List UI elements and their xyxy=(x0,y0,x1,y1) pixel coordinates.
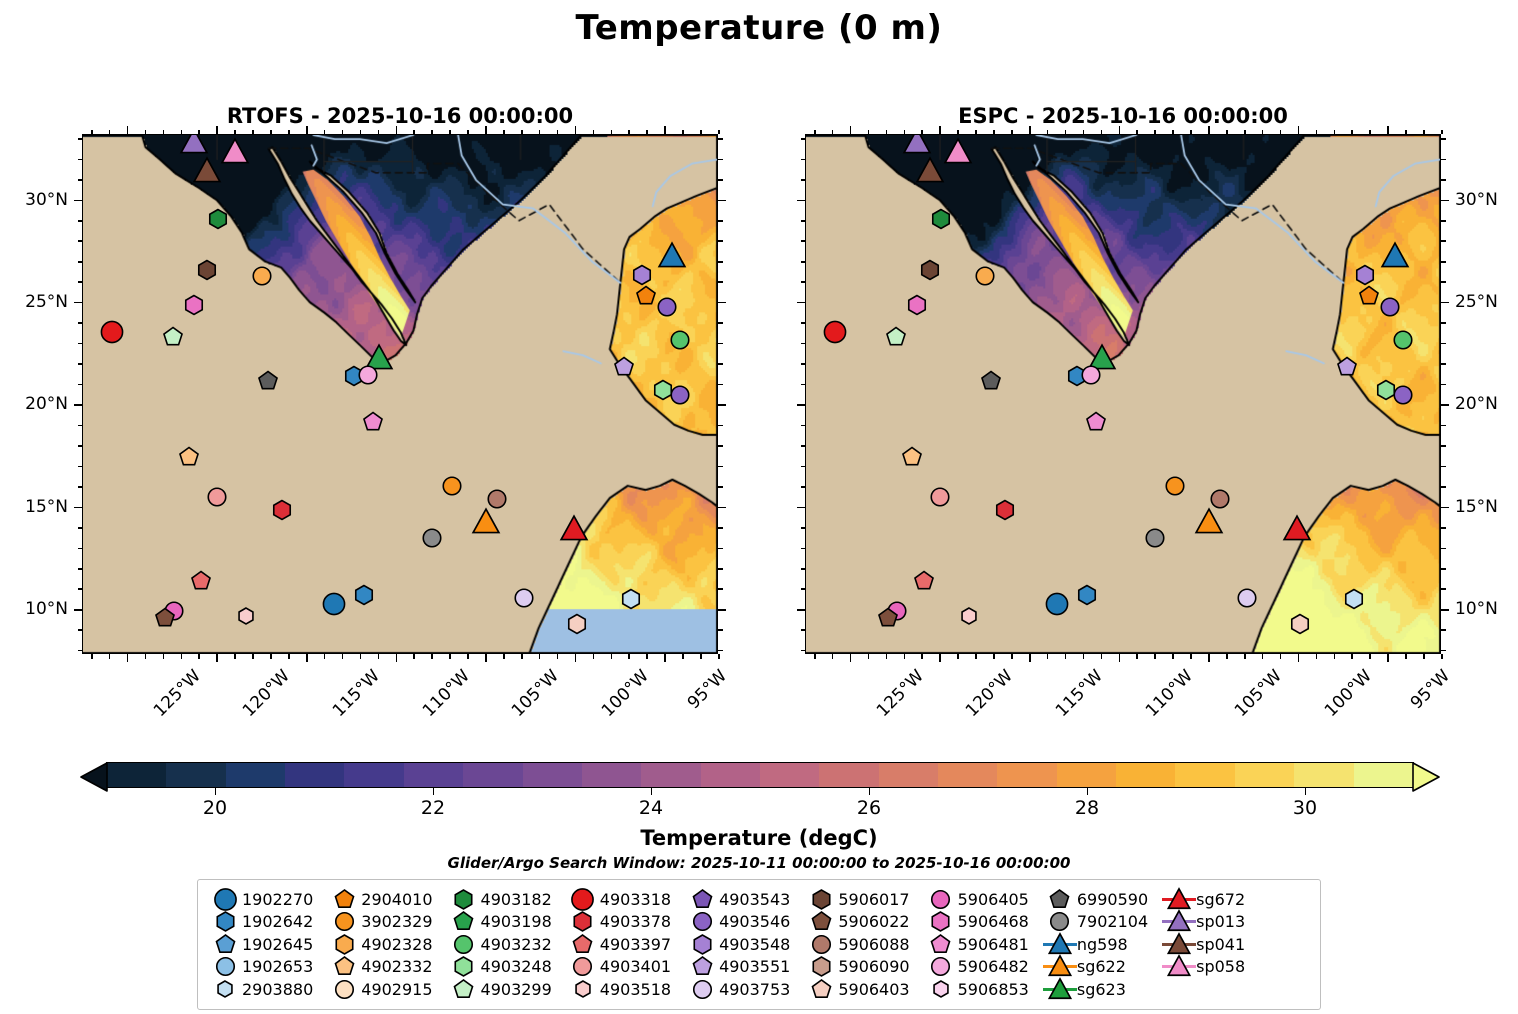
x-tick-minor xyxy=(252,130,254,135)
legend-marker-icon xyxy=(685,978,719,1000)
x-tick-minor xyxy=(1065,654,1067,659)
x-tick xyxy=(306,654,308,662)
legend-label: sp013 xyxy=(1196,912,1245,931)
x-tick-minor xyxy=(1423,130,1425,135)
x-tick-minor xyxy=(521,130,523,135)
legend-item[interactable]: 4903198 xyxy=(447,911,566,934)
legend-marker-icon xyxy=(1162,911,1196,933)
map-marker[interactable] xyxy=(361,409,386,434)
x-tick xyxy=(575,654,577,662)
x-tick-label: 95°W xyxy=(684,666,731,713)
y-tick-minor xyxy=(1441,588,1446,590)
legend-item[interactable]: 4903753 xyxy=(685,978,804,1001)
legend-marker-icon xyxy=(685,956,719,978)
sst-field-rtofs xyxy=(83,135,717,653)
x-tick xyxy=(396,654,398,662)
map-marker[interactable] xyxy=(978,368,1003,393)
y-tick-minor xyxy=(78,629,83,631)
map-marker[interactable] xyxy=(472,507,501,536)
map-marker[interactable] xyxy=(182,292,207,317)
x-tick-minor xyxy=(431,654,433,659)
legend-label: 5906088 xyxy=(838,935,909,954)
y-tick-minor xyxy=(801,179,806,181)
y-tick xyxy=(797,507,805,509)
x-tick-label: 110°W xyxy=(1141,666,1196,721)
x-tick-minor xyxy=(360,654,362,659)
x-tick-minor xyxy=(1011,654,1013,659)
y-tick-minor xyxy=(78,159,83,161)
map-frame-espc[interactable] xyxy=(805,134,1441,654)
legend-label: 4902332 xyxy=(361,957,432,976)
y-tick xyxy=(797,200,805,202)
y-tick-minor xyxy=(801,240,806,242)
legend-item[interactable]: ng598 xyxy=(1043,933,1162,956)
y-tick-minor xyxy=(1441,425,1446,427)
map-marker[interactable] xyxy=(1084,409,1109,434)
legend-item[interactable]: sg623 xyxy=(1043,978,1162,1001)
y-tick-minor xyxy=(78,281,83,283)
map-marker[interactable] xyxy=(565,612,590,637)
map-marker[interactable] xyxy=(1234,585,1259,610)
legend-item[interactable]: sg672 xyxy=(1162,888,1259,911)
map-marker[interactable] xyxy=(876,606,901,631)
map-marker[interactable] xyxy=(192,156,221,185)
legend-label: 5906482 xyxy=(958,957,1029,976)
map-marker[interactable] xyxy=(1335,355,1360,380)
map-marker[interactable] xyxy=(619,586,644,611)
legend-item[interactable]: 5906090 xyxy=(804,956,923,979)
x-tick-minor xyxy=(611,654,613,659)
map-marker[interactable] xyxy=(899,445,924,470)
sst-field-espc xyxy=(806,135,1440,653)
x-tick xyxy=(1298,654,1300,662)
y-tick-minor xyxy=(78,138,83,140)
map-marker[interactable] xyxy=(912,569,937,594)
x-tick-minor xyxy=(682,130,684,135)
y-tick xyxy=(1441,302,1449,304)
x-tick-minor xyxy=(700,654,702,659)
map-marker[interactable] xyxy=(355,362,380,387)
y-tick-minor xyxy=(801,466,806,468)
legend-item[interactable]: sp058 xyxy=(1162,956,1259,979)
map-marker[interactable] xyxy=(205,485,230,510)
y-tick-minor xyxy=(1441,281,1446,283)
y-tick xyxy=(797,609,805,611)
legend-item[interactable]: 5906468 xyxy=(924,911,1043,934)
legend-label: 5906481 xyxy=(958,935,1029,954)
map-marker[interactable] xyxy=(352,582,377,607)
legend-label: 4903299 xyxy=(481,980,552,999)
y-tick-minor xyxy=(801,363,806,365)
x-tick-minor xyxy=(1405,130,1407,135)
legend-item[interactable]: 4903548 xyxy=(685,933,804,956)
legend-label: 4903518 xyxy=(600,980,671,999)
x-tick xyxy=(1119,654,1121,662)
map-marker[interactable] xyxy=(973,264,998,289)
legend-item[interactable]: 1902642 xyxy=(208,911,327,934)
y-tick-minor xyxy=(1441,138,1446,140)
y-tick-minor xyxy=(718,445,723,447)
legend-label: 4903182 xyxy=(481,890,552,909)
x-tick-minor xyxy=(832,654,834,659)
legend-item[interactable]: 4903318 xyxy=(566,888,685,911)
legend-item[interactable]: 5906403 xyxy=(804,978,923,1001)
map-marker[interactable] xyxy=(929,206,954,231)
legend-marker-icon xyxy=(1043,888,1077,910)
legend-marker-icon xyxy=(804,978,838,1000)
x-tick-label: 125°W xyxy=(873,666,928,721)
legend-item[interactable]: 2904010 xyxy=(327,888,446,911)
x-tick-minor xyxy=(628,130,630,135)
map-marker[interactable] xyxy=(235,605,257,627)
map-marker[interactable] xyxy=(915,156,944,185)
map-marker[interactable] xyxy=(905,292,930,317)
legend-item[interactable]: 7902104 xyxy=(1043,911,1162,934)
y-tick-minor xyxy=(801,568,806,570)
legend-marker-icon xyxy=(804,933,838,955)
x-tick-minor xyxy=(1441,130,1443,135)
legend-column: 19022701902642190264519026532903880 xyxy=(208,888,327,1001)
y-tick-minor xyxy=(78,486,83,488)
y-tick-minor xyxy=(801,384,806,386)
map-marker[interactable] xyxy=(1195,507,1224,536)
y-tick-minor xyxy=(78,466,83,468)
map-marker[interactable] xyxy=(440,474,465,499)
legend-label: 5906022 xyxy=(838,912,909,931)
x-tick-minor xyxy=(682,654,684,659)
legend-marker-icon xyxy=(566,888,600,910)
y-tick xyxy=(1441,404,1449,406)
map-marker[interactable] xyxy=(1075,582,1100,607)
legend-label: 5906853 xyxy=(958,980,1029,999)
x-tick-minor xyxy=(145,130,147,135)
map-marker[interactable] xyxy=(612,355,637,380)
legend-item[interactable]: sp041 xyxy=(1162,933,1259,956)
legend-item[interactable]: 4903299 xyxy=(447,978,566,1001)
map-marker[interactable] xyxy=(559,515,588,544)
map-marker[interactable] xyxy=(903,134,932,157)
legend-column: 49033184903378490339749034014903518 xyxy=(566,888,685,1001)
x-tick-minor xyxy=(1369,130,1371,135)
legend-marker-icon xyxy=(924,888,958,910)
legend-marker-icon xyxy=(685,933,719,955)
map-marker[interactable] xyxy=(917,258,942,283)
legend-label: 3902329 xyxy=(361,912,432,931)
map-marker[interactable] xyxy=(160,324,185,349)
legend-item[interactable]: 4903543 xyxy=(685,888,804,911)
y-tick-minor xyxy=(78,384,83,386)
legend-item[interactable]: 5906853 xyxy=(924,978,1043,1001)
legend-column: 59060175906022590608859060905906403 xyxy=(804,888,923,1001)
map-marker[interactable] xyxy=(1288,612,1313,637)
y-tick-minor xyxy=(718,220,723,222)
y-tick-minor xyxy=(78,261,83,263)
y-tick-minor xyxy=(801,548,806,550)
legend-item[interactable]: 5906482 xyxy=(924,956,1043,979)
x-tick-minor xyxy=(557,130,559,135)
map-marker[interactable] xyxy=(176,445,201,470)
legend-item[interactable]: 4903182 xyxy=(447,888,566,911)
x-tick-minor xyxy=(234,130,236,135)
y-tick-minor xyxy=(1441,568,1446,570)
legend-item[interactable]: 4903397 xyxy=(566,933,685,956)
map-marker[interactable] xyxy=(1378,294,1403,319)
x-tick-minor xyxy=(145,654,147,659)
colorbar-segment xyxy=(879,763,938,787)
map-marker[interactable] xyxy=(269,497,294,522)
y-tick-label: 10°N xyxy=(25,599,68,619)
legend-marker-icon xyxy=(327,978,361,1000)
legend-column: 49035434903546490354849035514903753 xyxy=(685,888,804,1001)
x-tick-minor xyxy=(109,654,111,659)
map-marker[interactable] xyxy=(1163,474,1188,499)
y-tick-minor xyxy=(801,159,806,161)
map-marker[interactable] xyxy=(206,206,231,231)
legend-item[interactable]: sg622 xyxy=(1043,956,1162,979)
map-marker[interactable] xyxy=(189,569,214,594)
y-tick-minor xyxy=(718,343,723,345)
marker-legend[interactable]: 1902270190264219026451902653290388029040… xyxy=(197,879,1321,1010)
colorbar-segment xyxy=(701,763,760,787)
x-tick-label: 105°W xyxy=(508,666,563,721)
x-tick xyxy=(664,126,666,134)
legend-item[interactable]: 1902645 xyxy=(208,933,327,956)
x-tick-minor xyxy=(181,130,183,135)
legend-item[interactable]: 4903378 xyxy=(566,911,685,934)
y-tick-minor xyxy=(718,548,723,550)
x-tick-minor xyxy=(378,130,380,135)
legend-item[interactable]: 5906022 xyxy=(804,911,923,934)
x-tick-label: 110°W xyxy=(418,666,473,721)
legend-item[interactable]: 4903232 xyxy=(447,933,566,956)
legend-item[interactable]: 4903248 xyxy=(447,956,566,979)
y-tick-minor xyxy=(1441,486,1446,488)
legend-marker-icon xyxy=(1043,933,1077,955)
legend-item[interactable]: 6990590 xyxy=(1043,888,1162,911)
map-marker[interactable] xyxy=(319,589,348,618)
legend-marker-icon xyxy=(804,888,838,910)
x-tick xyxy=(485,126,487,134)
y-tick-minor xyxy=(718,384,723,386)
x-tick-minor xyxy=(1244,130,1246,135)
map-marker[interactable] xyxy=(1390,327,1415,352)
x-tick-minor xyxy=(557,654,559,659)
y-tick-minor xyxy=(1441,445,1446,447)
y-tick-minor xyxy=(718,179,723,181)
map-panel-rtofs[interactable]: RTOFS - 2025-10-16 00:00:00 xyxy=(82,134,718,654)
legend-label: 4903551 xyxy=(719,957,790,976)
x-tick-minor xyxy=(832,130,834,135)
legend-item[interactable]: 4902915 xyxy=(327,978,446,1001)
legend-marker-icon xyxy=(804,956,838,978)
x-tick-minor xyxy=(1101,130,1103,135)
x-tick-minor xyxy=(539,654,541,659)
y-tick-minor xyxy=(801,486,806,488)
x-tick-minor xyxy=(1083,130,1085,135)
legend-marker-icon xyxy=(447,978,481,1000)
x-tick-minor xyxy=(886,654,888,659)
x-tick-minor xyxy=(342,130,344,135)
x-tick xyxy=(1298,126,1300,134)
legend-column: 59064055906468590648159064825906853 xyxy=(924,888,1043,1001)
legend-item[interactable]: 5906017 xyxy=(804,888,923,911)
legend-column: 29040103902329490232849023324902915 xyxy=(327,888,446,1001)
legend-label: sp058 xyxy=(1196,957,1245,976)
x-tick-minor xyxy=(1154,130,1156,135)
y-tick-label: 10°N xyxy=(1455,599,1498,619)
legend-marker-icon xyxy=(924,933,958,955)
legend-item[interactable]: 3902329 xyxy=(327,911,446,934)
y-tick-minor xyxy=(801,445,806,447)
map-marker[interactable] xyxy=(221,138,250,167)
map-marker[interactable] xyxy=(1282,515,1311,544)
legend-item[interactable]: 5906088 xyxy=(804,933,923,956)
y-tick-minor xyxy=(1441,548,1446,550)
x-tick-minor xyxy=(1226,654,1228,659)
x-tick-minor xyxy=(700,130,702,135)
map-marker[interactable] xyxy=(1078,362,1103,387)
map-marker[interactable] xyxy=(180,134,209,157)
legend-marker-icon xyxy=(208,933,242,955)
x-tick-minor xyxy=(91,130,93,135)
y-tick-label: 25°N xyxy=(1455,292,1498,312)
legend-marker-icon xyxy=(208,911,242,933)
legend-item[interactable]: 4902328 xyxy=(327,933,446,956)
legend-marker-icon xyxy=(208,956,242,978)
x-tick-minor xyxy=(1262,130,1264,135)
x-tick-minor xyxy=(324,130,326,135)
x-tick-minor xyxy=(921,654,923,659)
map-marker[interactable] xyxy=(655,294,680,319)
x-tick-minor xyxy=(957,130,959,135)
y-tick-label: 25°N xyxy=(25,292,68,312)
legend-item[interactable]: 2903880 xyxy=(208,978,327,1001)
legend-item[interactable]: sp013 xyxy=(1162,911,1259,934)
colorbar-under-arrow xyxy=(80,762,108,796)
map-marker[interactable] xyxy=(255,368,280,393)
x-tick-label: 120°W xyxy=(962,666,1017,721)
x-tick-minor xyxy=(886,130,888,135)
legend-marker-icon xyxy=(566,911,600,933)
legend-item[interactable]: 5906405 xyxy=(924,888,1043,911)
colorbar-tick xyxy=(433,788,434,795)
legend-label: 4903546 xyxy=(719,912,790,931)
y-tick xyxy=(74,609,82,611)
x-tick-minor xyxy=(993,130,995,135)
legend-marker-icon xyxy=(327,911,361,933)
x-tick xyxy=(850,126,852,134)
map-marker[interactable] xyxy=(250,264,275,289)
y-tick xyxy=(1441,200,1449,202)
legend-marker-icon xyxy=(447,956,481,978)
map-marker[interactable] xyxy=(194,258,219,283)
x-tick xyxy=(127,126,129,134)
legend-item[interactable]: 4903401 xyxy=(566,956,685,979)
x-tick-minor xyxy=(718,654,720,659)
x-tick-minor xyxy=(1351,654,1353,659)
legend-label: 5906090 xyxy=(838,957,909,976)
x-tick xyxy=(1119,126,1121,134)
map-marker[interactable] xyxy=(883,324,908,349)
map-marker[interactable] xyxy=(667,327,692,352)
x-tick-minor xyxy=(868,130,870,135)
map-marker[interactable] xyxy=(667,383,692,408)
legend-label: 4903198 xyxy=(481,912,552,931)
x-tick xyxy=(664,654,666,662)
legend-item[interactable]: 4903546 xyxy=(685,911,804,934)
y-tick-label: 20°N xyxy=(1455,394,1498,414)
legend-item[interactable]: 5906481 xyxy=(924,933,1043,956)
x-tick-minor xyxy=(1190,654,1192,659)
x-tick xyxy=(1208,654,1210,662)
legend-label: 1902270 xyxy=(242,890,313,909)
legend-item[interactable]: 4903518 xyxy=(566,978,685,1001)
legend-marker-icon xyxy=(327,956,361,978)
map-panel-espc[interactable]: ESPC - 2025-10-16 00:00:00 xyxy=(805,134,1441,654)
legend-item[interactable]: 4902332 xyxy=(327,956,446,979)
map-marker[interactable] xyxy=(1042,589,1071,618)
legend-label: 1902645 xyxy=(242,935,313,954)
y-tick-minor xyxy=(1441,322,1446,324)
colorbar-segment xyxy=(582,763,641,787)
map-marker[interactable] xyxy=(97,317,126,346)
y-tick-minor xyxy=(801,343,806,345)
x-tick xyxy=(850,654,852,662)
x-tick-label: 100°W xyxy=(1321,666,1376,721)
map-marker[interactable] xyxy=(944,138,973,167)
y-tick-minor xyxy=(718,486,723,488)
x-tick-label: 125°W xyxy=(150,666,205,721)
map-frame-rtofs[interactable] xyxy=(82,134,718,654)
map-marker[interactable] xyxy=(820,317,849,346)
legend-item[interactable]: 1902653 xyxy=(208,956,327,979)
legend-label: 5906468 xyxy=(958,912,1029,931)
legend-item[interactable]: 4903551 xyxy=(685,956,804,979)
colorbar-tick xyxy=(651,788,652,795)
map-marker[interactable] xyxy=(928,485,953,510)
map-marker[interactable] xyxy=(1342,586,1367,611)
legend-marker-icon xyxy=(566,978,600,1000)
x-tick-minor xyxy=(109,130,111,135)
map-marker[interactable] xyxy=(992,497,1017,522)
map-marker[interactable] xyxy=(511,585,536,610)
map-marker[interactable] xyxy=(658,241,687,270)
x-tick-minor xyxy=(378,654,380,659)
x-tick-minor xyxy=(198,654,200,659)
x-tick-minor xyxy=(904,130,906,135)
x-tick-minor xyxy=(1351,130,1353,135)
map-marker[interactable] xyxy=(958,605,980,627)
legend-marker-icon xyxy=(1162,933,1196,955)
x-tick-minor xyxy=(1172,654,1174,659)
legend-item[interactable]: 1902270 xyxy=(208,888,327,911)
y-tick xyxy=(718,200,726,202)
legend-label: 4903318 xyxy=(600,890,671,909)
y-tick-minor xyxy=(718,629,723,631)
x-tick-minor xyxy=(1423,654,1425,659)
y-tick-minor xyxy=(78,568,83,570)
x-tick-minor xyxy=(1244,654,1246,659)
map-marker[interactable] xyxy=(1143,526,1168,551)
colorbar-tick xyxy=(215,788,216,795)
map-marker[interactable] xyxy=(420,526,445,551)
map-marker[interactable] xyxy=(153,606,178,631)
colorbar-segment xyxy=(523,763,582,787)
x-tick-minor xyxy=(1136,654,1138,659)
colorbar-tick-label: 24 xyxy=(639,797,663,819)
map-marker[interactable] xyxy=(1381,241,1410,270)
map-marker[interactable] xyxy=(1390,383,1415,408)
